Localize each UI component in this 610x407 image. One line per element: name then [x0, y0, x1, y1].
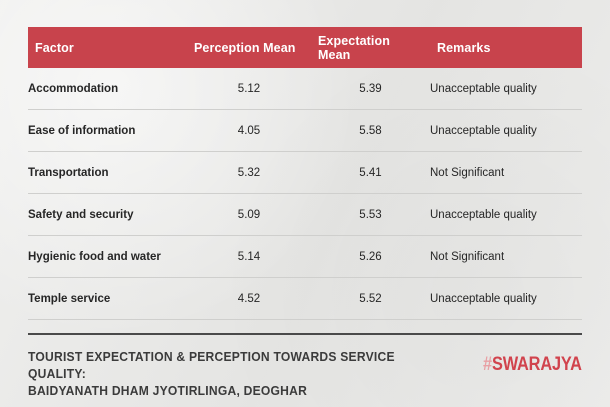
table-row: Safety and security 5.09 5.53 Unacceptab… — [28, 194, 582, 236]
table-row: Transportation 5.32 5.41 Not Significant — [28, 152, 582, 194]
table-row: Hygienic food and water 5.14 5.26 Not Si… — [28, 236, 582, 278]
cell-perception-mean: 5.09 — [187, 194, 311, 236]
footer-divider — [28, 333, 582, 335]
cell-factor: Hygienic food and water — [28, 236, 187, 278]
column-header-expectation-mean-label: Expectation Mean — [311, 34, 430, 62]
table-row: Accommodation 5.12 5.39 Unacceptable qua… — [28, 68, 582, 110]
cell-remarks: Unacceptable quality — [430, 68, 582, 110]
table-header-row: Factor Perception Mean Expectation Mean … — [28, 27, 582, 68]
cell-remarks: Not Significant — [430, 152, 582, 194]
cell-remarks: Unacceptable quality — [430, 110, 582, 152]
table-row: Ease of information 4.05 5.58 Unacceptab… — [28, 110, 582, 152]
footer-content: TOURIST EXPECTATION & PERCEPTION TOWARDS… — [28, 348, 582, 399]
table-body: Accommodation 5.12 5.39 Unacceptable qua… — [28, 68, 582, 320]
cell-expectation-mean: 5.53 — [311, 194, 430, 236]
cell-remarks: Unacceptable quality — [430, 278, 582, 320]
cell-perception-mean: 4.05 — [187, 110, 311, 152]
cell-expectation-mean: 5.41 — [311, 152, 430, 194]
cell-factor: Safety and security — [28, 194, 187, 236]
cell-expectation-mean: 5.39 — [311, 68, 430, 110]
cell-factor: Accommodation — [28, 68, 187, 110]
column-header-expectation-mean: Expectation Mean — [311, 27, 430, 68]
cell-perception-mean: 5.14 — [187, 236, 311, 278]
footer-caption-title: TOURIST EXPECTATION & PERCEPTION TOWARDS… — [28, 348, 419, 399]
cell-factor: Temple service — [28, 278, 187, 320]
column-header-remarks-label: Remarks — [430, 41, 582, 55]
cell-perception-mean: 5.32 — [187, 152, 311, 194]
cell-remarks: Not Significant — [430, 236, 582, 278]
footer: TOURIST EXPECTATION & PERCEPTION TOWARDS… — [28, 333, 582, 399]
cell-expectation-mean: 5.26 — [311, 236, 430, 278]
table-row: Temple service 4.52 5.52 Unacceptable qu… — [28, 278, 582, 320]
cell-factor: Transportation — [28, 152, 187, 194]
service-quality-table-container: Factor Perception Mean Expectation Mean … — [28, 27, 582, 320]
cell-expectation-mean: 5.52 — [311, 278, 430, 320]
service-quality-table: Factor Perception Mean Expectation Mean … — [28, 27, 582, 320]
cell-perception-mean: 4.52 — [187, 278, 311, 320]
cell-remarks: Unacceptable quality — [430, 194, 582, 236]
swarajya-logo: #SWARAJYA — [483, 355, 582, 375]
infographic-table-card: Factor Perception Mean Expectation Mean … — [0, 0, 610, 407]
cell-perception-mean: 5.12 — [187, 68, 311, 110]
column-header-remarks: Remarks — [430, 27, 582, 68]
column-header-factor: Factor — [28, 27, 187, 68]
cell-factor: Ease of information — [28, 110, 187, 152]
column-header-factor-label: Factor — [28, 41, 187, 55]
swarajya-logo-text: SWARAJYA — [492, 354, 582, 375]
column-header-perception-mean-label: Perception Mean — [187, 41, 311, 55]
cell-expectation-mean: 5.58 — [311, 110, 430, 152]
column-header-perception-mean: Perception Mean — [187, 27, 311, 68]
table-header: Factor Perception Mean Expectation Mean … — [28, 27, 582, 68]
